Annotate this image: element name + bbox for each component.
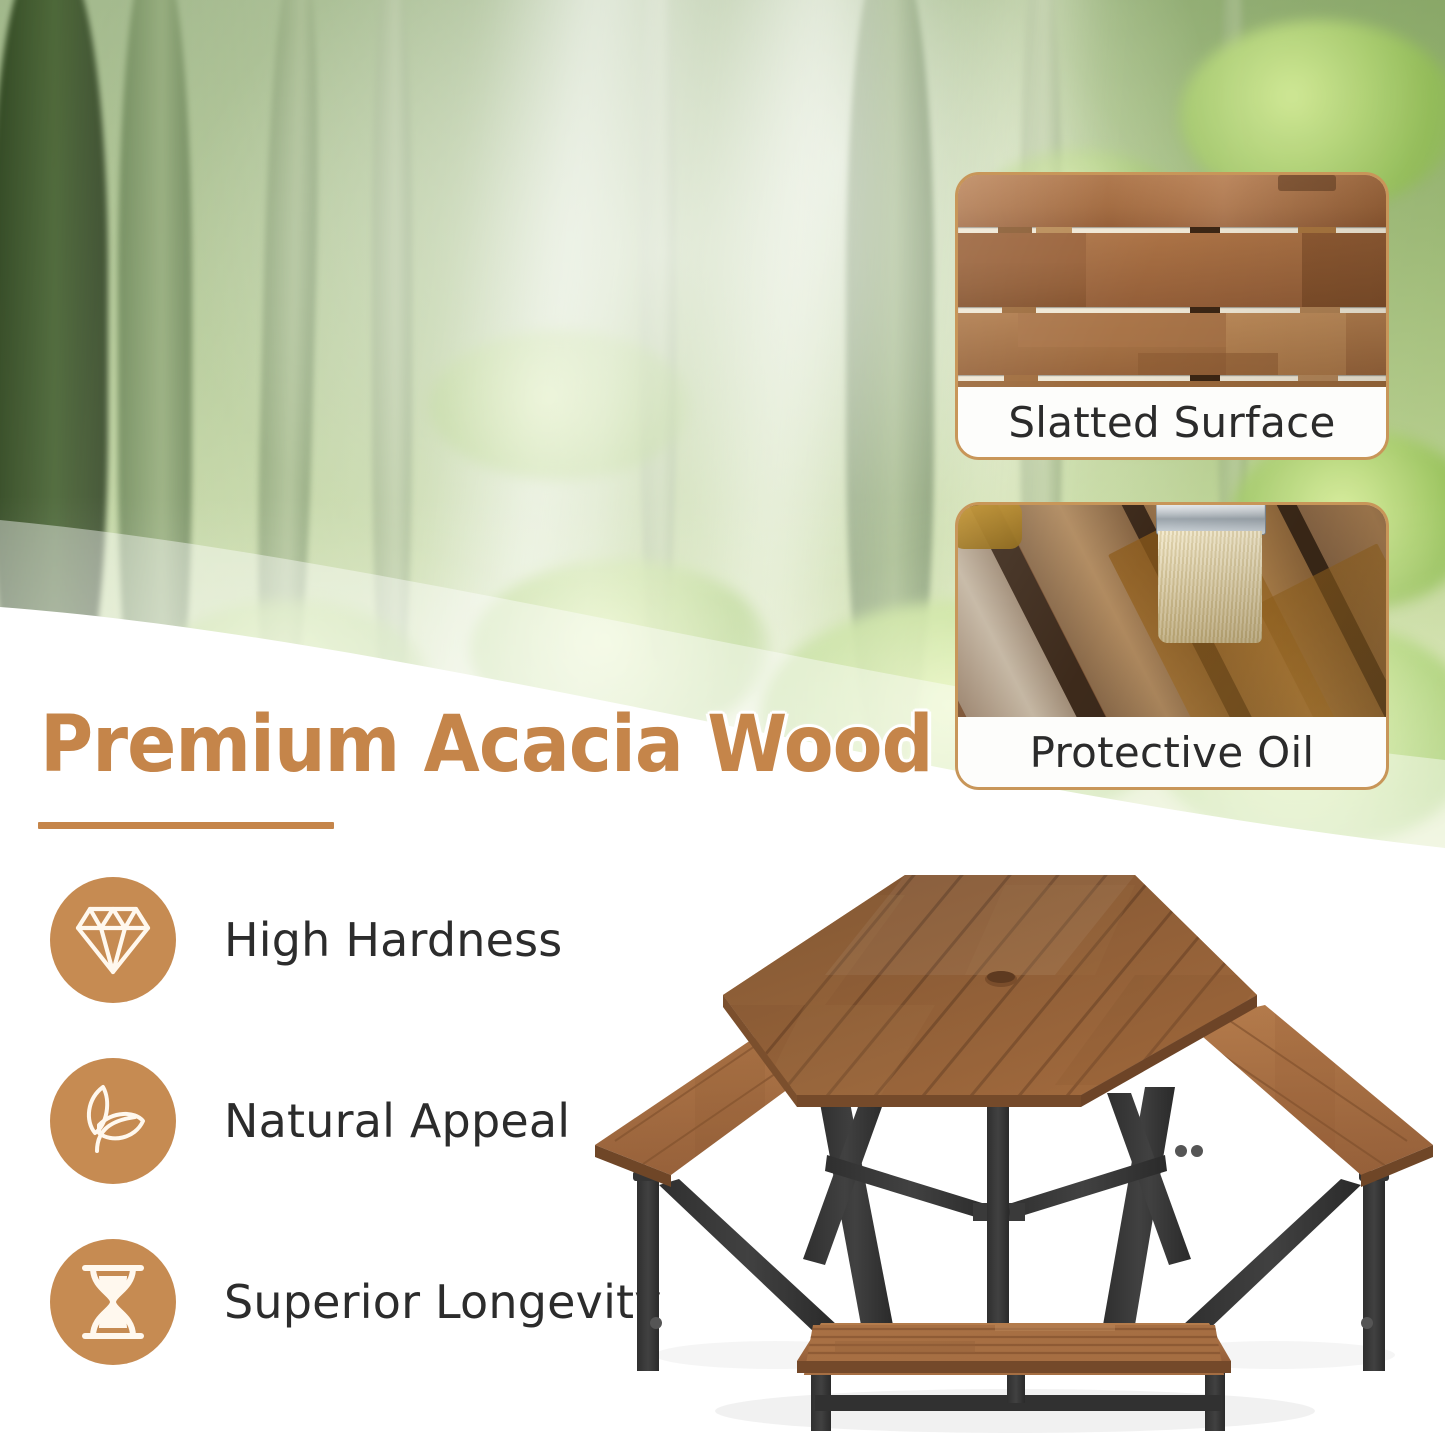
diamond-icon [74, 903, 152, 977]
picnic-table-illustration [575, 855, 1445, 1445]
card-caption: Protective Oil [958, 717, 1386, 787]
protective-oil-photo [958, 505, 1386, 717]
product-photo-picnic-table [575, 855, 1445, 1445]
title-underline-divider [38, 822, 334, 829]
card-caption: Slatted Surface [958, 387, 1386, 457]
feature-icon-badge [50, 1239, 176, 1365]
callout-card-slatted-surface: Slatted Surface [955, 172, 1389, 460]
product-infographic: Premium Acacia Wood High Hardness [0, 0, 1445, 1445]
feature-icon-badge [50, 1058, 176, 1184]
page-title: Premium Acacia Wood [40, 700, 960, 790]
hourglass-icon [75, 1262, 151, 1342]
leaf-icon [73, 1081, 153, 1161]
slatted-surface-photo [958, 175, 1386, 387]
feature-icon-badge [50, 877, 176, 1003]
headline-text: Premium Acacia Wood [40, 700, 896, 790]
callout-card-protective-oil: Protective Oil [955, 502, 1389, 790]
feature-label: Natural Appeal [224, 1094, 570, 1148]
feature-item-natural-appeal: Natural Appeal [50, 1058, 570, 1184]
feature-label: High Hardness [224, 913, 562, 967]
feature-item-high-hardness: High Hardness [50, 877, 562, 1003]
card-caption-text: Protective Oil [1030, 728, 1315, 777]
hexagonal-tabletop [707, 855, 1331, 1125]
feature-item-superior-longevity: Superior Longevity [50, 1239, 662, 1365]
card-caption-text: Slatted Surface [1008, 398, 1335, 447]
